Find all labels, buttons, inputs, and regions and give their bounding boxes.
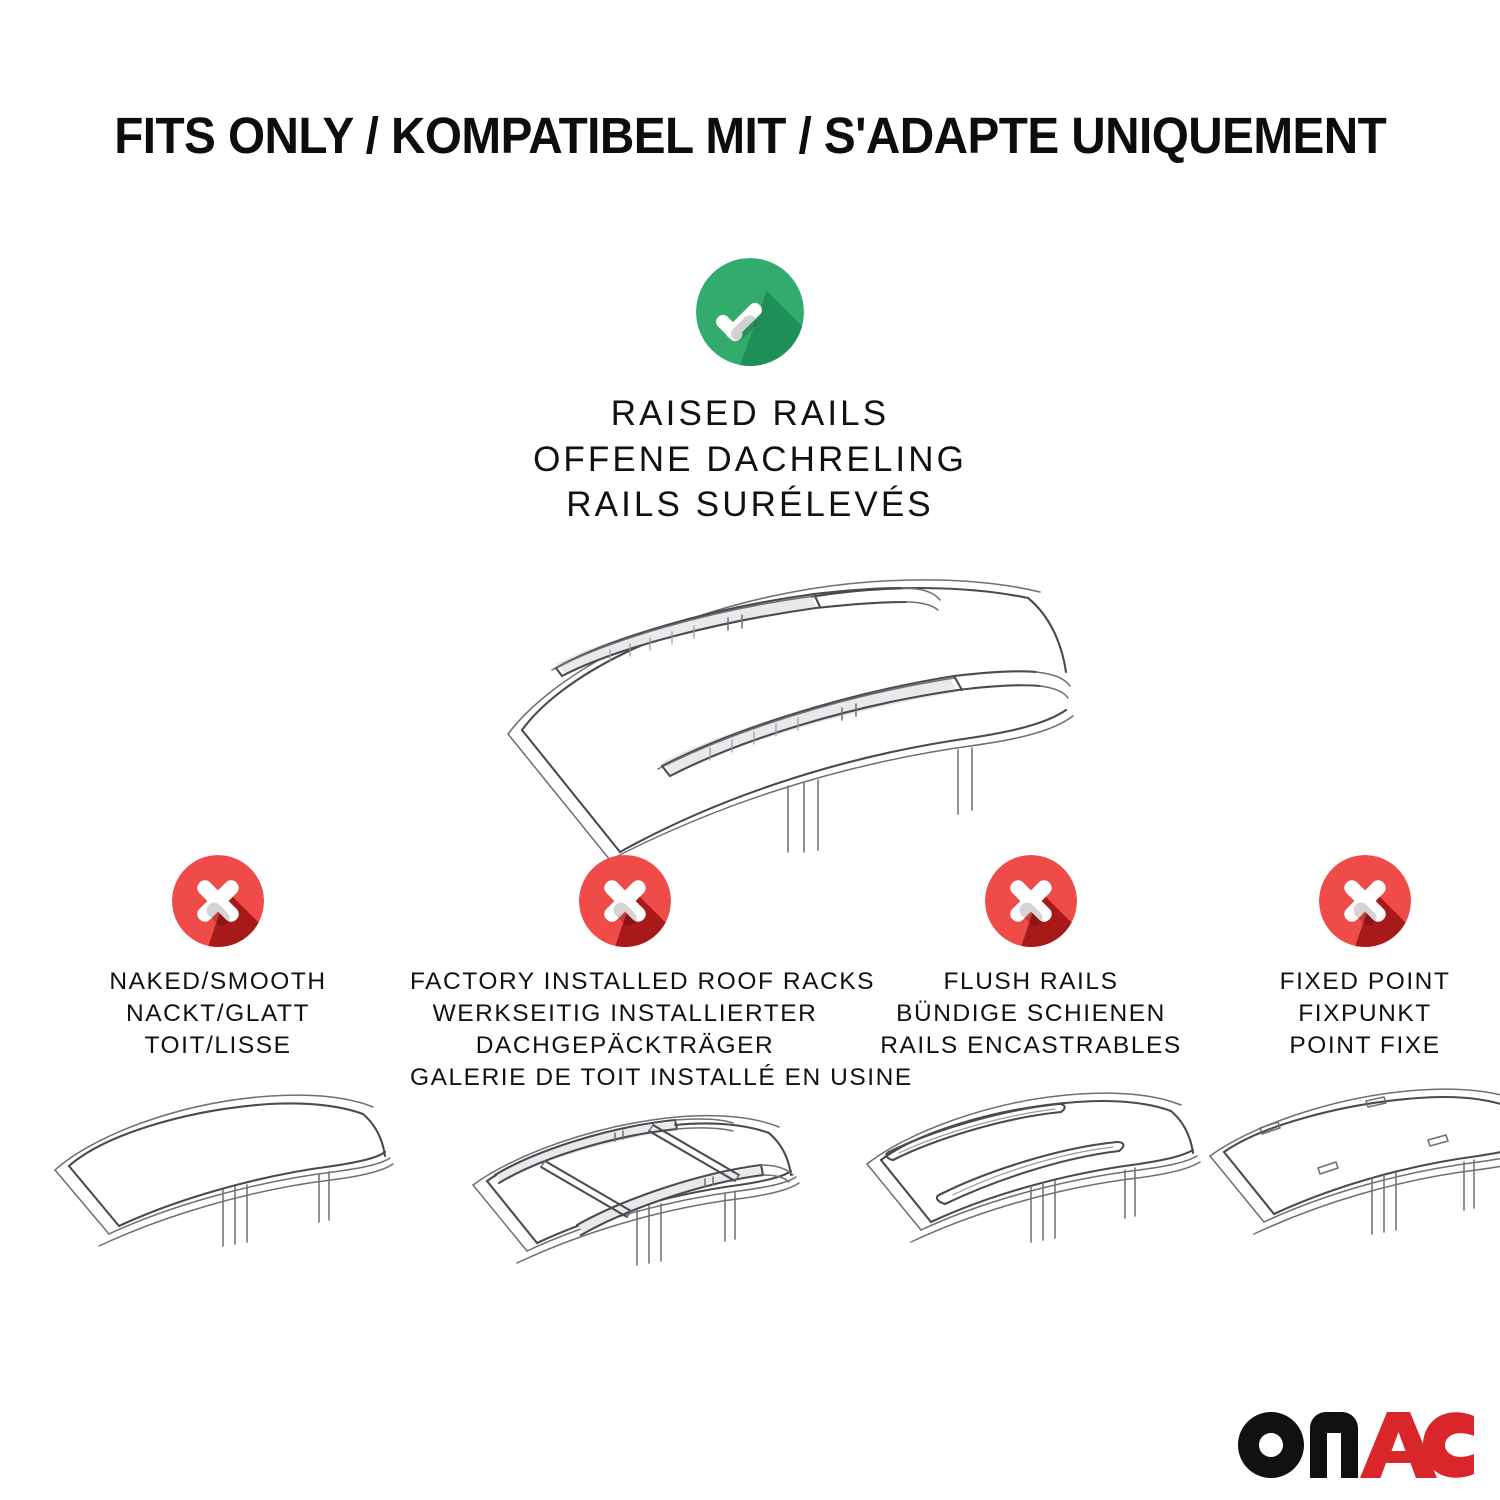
brand-letter-o	[1238, 1412, 1304, 1478]
label-line: NACKT/GLATT	[28, 998, 408, 1030]
label-line: DACHGEPÄCKTRÄGER	[410, 1030, 840, 1062]
label-line: GALERIE DE TOIT INSTALLÉ EN USINE	[410, 1062, 840, 1094]
incompatible-option-flush-rails: FLUSH RAILS BÜNDIGE SCHIENEN RAILS ENCAS…	[845, 855, 1217, 1294]
page-title: FITS ONLY / KOMPATIBEL MIT / S'ADAPTE UN…	[114, 106, 1386, 165]
incompatible-option-factory-racks: FACTORY INSTALLED ROOF RACKS WERKSEITIG …	[410, 855, 840, 1329]
x-circle-icon	[1319, 855, 1411, 947]
label-line: FIXED POINT	[1190, 966, 1500, 998]
brand-letter-m	[1310, 1412, 1358, 1478]
roof-illustration-flush-rails	[845, 1084, 1217, 1294]
incompatible-option-naked-smooth: NAKED/SMOOTH NACKT/GLATT TOIT/LISSE	[28, 855, 408, 1294]
label-line: FIXPUNKT	[1190, 998, 1500, 1030]
label-line: RAILS SURÉLEVÉS	[250, 482, 1250, 528]
incompatible-option-label: FIXED POINT FIXPUNKT POINT FIXE	[1190, 966, 1500, 1062]
label-line: WERKSEITIG INSTALLIERTER	[410, 998, 840, 1030]
roof-illustration-naked-smooth	[28, 1084, 408, 1294]
roof-illustration-fixed-point	[1190, 1084, 1500, 1294]
label-line: FACTORY INSTALLED ROOF RACKS	[410, 966, 840, 998]
incompatible-option-label: NAKED/SMOOTH NACKT/GLATT TOIT/LISSE	[28, 966, 408, 1062]
compatible-option-raised-rails: RAISED RAILS OFFENE DACHRELING RAILS SUR…	[250, 258, 1250, 862]
brand-logo	[1238, 1412, 1474, 1478]
label-line: RAISED RAILS	[250, 391, 1250, 437]
label-line: POINT FIXE	[1190, 1030, 1500, 1062]
label-line: OFFENE DACHRELING	[250, 437, 1250, 483]
label-line: RAILS ENCASTRABLES	[845, 1030, 1217, 1062]
label-line: NAKED/SMOOTH	[28, 966, 408, 998]
x-circle-icon	[985, 855, 1077, 947]
incompatible-option-label: FLUSH RAILS BÜNDIGE SCHIENEN RAILS ENCAS…	[845, 966, 1217, 1062]
label-line: FLUSH RAILS	[845, 966, 1217, 998]
roof-illustration-raised-rails	[250, 552, 1250, 862]
roof-illustration-factory-racks	[410, 1109, 840, 1329]
check-circle-icon	[696, 258, 804, 366]
x-circle-icon	[579, 855, 671, 947]
incompatible-option-label: FACTORY INSTALLED ROOF RACKS WERKSEITIG …	[410, 966, 840, 1093]
x-circle-icon	[172, 855, 264, 947]
label-line: BÜNDIGE SCHIENEN	[845, 998, 1217, 1030]
incompatible-option-fixed-point: FIXED POINT FIXPUNKT POINT FIXE	[1190, 855, 1500, 1294]
header: FITS ONLY / KOMPATIBEL MIT / S'ADAPTE UN…	[0, 106, 1500, 165]
label-line: TOIT/LISSE	[28, 1030, 408, 1062]
compatible-option-label: RAISED RAILS OFFENE DACHRELING RAILS SUR…	[250, 391, 1250, 528]
